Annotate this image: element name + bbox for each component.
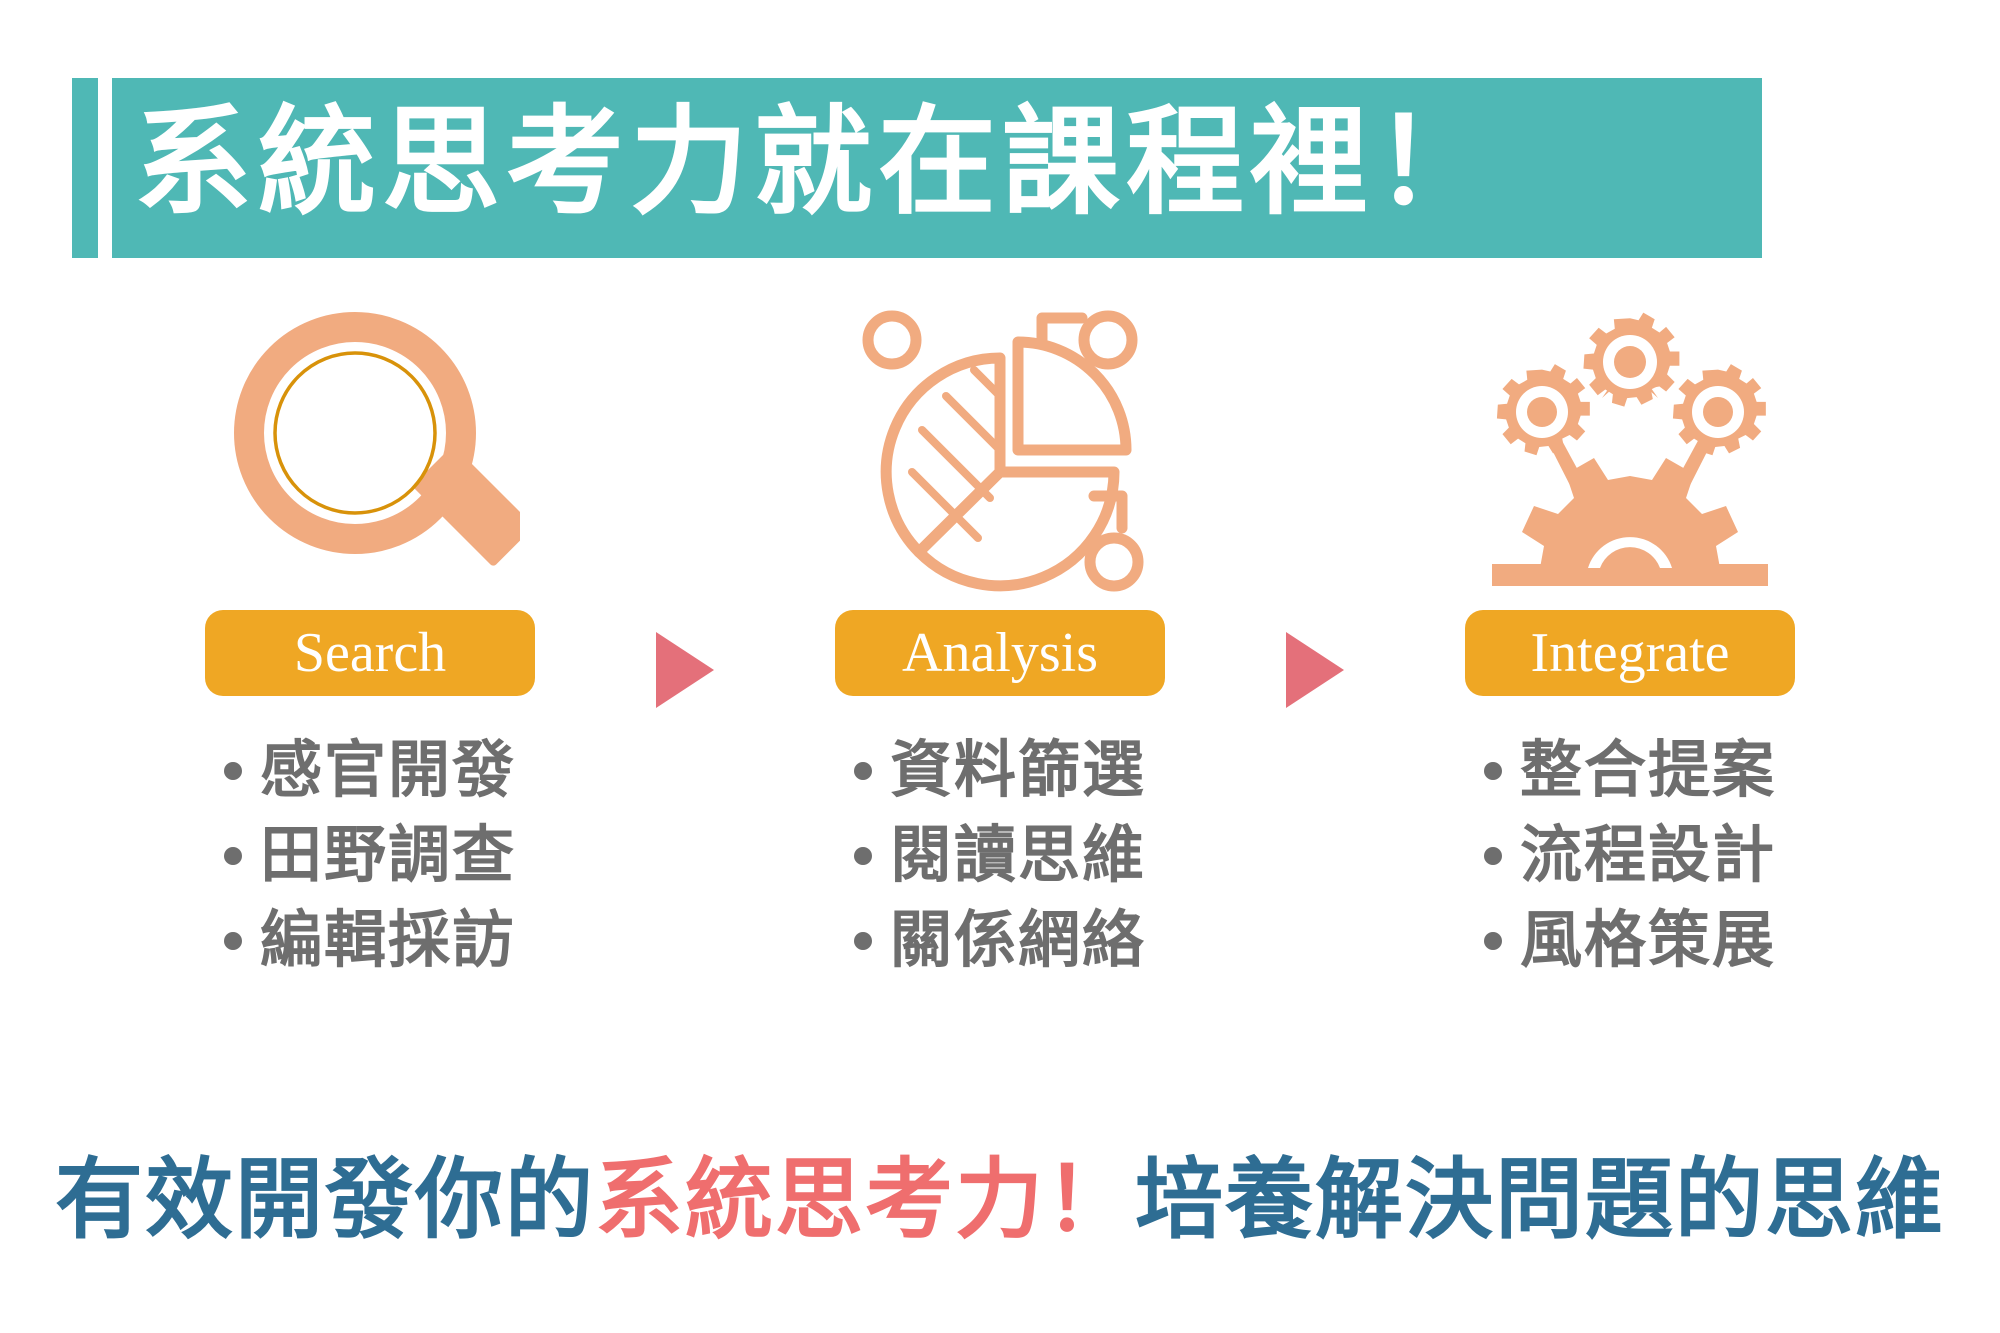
header-gap (98, 78, 112, 258)
step-label-text: Integrate (1531, 625, 1730, 681)
bullet-dot-icon (1484, 762, 1502, 780)
bullet-dot-icon (1484, 847, 1502, 865)
steps-row: Search 感官開發 田野調查 編輯採訪 (0, 300, 2000, 975)
play-triangle-icon (1286, 632, 1344, 708)
list-item: 關係網絡 (854, 908, 1146, 975)
list-item: 閱讀思維 (854, 823, 1146, 890)
arrow-2 (1240, 300, 1390, 708)
bullet-label: 資料篩選 (890, 738, 1146, 805)
list-item: 感官開發 (224, 738, 516, 805)
play-triangle-icon (656, 632, 714, 708)
bullet-label: 編輯採訪 (260, 908, 516, 975)
header-bar: 系統思考力就在課程裡！ (112, 78, 1762, 258)
tagline-part-1: 有效開發你的 (55, 1158, 595, 1246)
bullet-dot-icon (224, 932, 242, 950)
tagline-part-2: 系統思考力！ (595, 1158, 1135, 1246)
page-title: 系統思考力就在課程裡！ (134, 105, 1498, 223)
bullet-list-analysis: 資料篩選 閱讀思維 關係網絡 (854, 738, 1146, 975)
step-label-search[interactable]: Search (205, 610, 535, 696)
header-accent-bar (72, 78, 98, 258)
step-label-integrate[interactable]: Integrate (1465, 610, 1795, 696)
bullet-dot-icon (224, 847, 242, 865)
gears-icon (1480, 300, 1780, 600)
footer-tagline: 有效開發你的 系統思考力！ 培養解決問題的思維 (0, 1158, 2000, 1246)
step-analysis: Analysis 資料篩選 閱讀思維 關係網絡 (760, 300, 1240, 975)
list-item: 流程設計 (1484, 823, 1776, 890)
header-banner: 系統思考力就在課程裡！ (72, 78, 1762, 258)
list-item: 資料篩選 (854, 738, 1146, 805)
bullet-dot-icon (224, 762, 242, 780)
step-search: Search 感官開發 田野調查 編輯採訪 (130, 300, 610, 975)
bullet-list-search: 感官開發 田野調查 編輯採訪 (224, 738, 516, 975)
bullet-label: 關係網絡 (890, 908, 1146, 975)
bullet-dot-icon (854, 932, 872, 950)
list-item: 編輯採訪 (224, 908, 516, 975)
step-label-text: Search (294, 625, 446, 681)
bullet-label: 風格策展 (1520, 908, 1776, 975)
bullet-dot-icon (854, 847, 872, 865)
bullet-list-integrate: 整合提案 流程設計 風格策展 (1484, 738, 1776, 975)
list-item: 整合提案 (1484, 738, 1776, 805)
infographic-canvas: 系統思考力就在課程裡！ Search 感官開發 (0, 0, 2000, 1333)
bullet-dot-icon (854, 762, 872, 780)
magnifier-icon (220, 300, 520, 600)
tagline-part-3: 培養解決問題的思維 (1135, 1158, 1945, 1246)
arrow-1 (610, 300, 760, 708)
bullet-label: 流程設計 (1520, 823, 1776, 890)
pie-chart-icon (850, 300, 1150, 600)
step-label-analysis[interactable]: Analysis (835, 610, 1165, 696)
bullet-label: 整合提案 (1520, 738, 1776, 805)
bullet-label: 感官開發 (260, 738, 516, 805)
bullet-label: 閱讀思維 (890, 823, 1146, 890)
list-item: 田野調查 (224, 823, 516, 890)
bullet-label: 田野調查 (260, 823, 516, 890)
step-integrate: Integrate 整合提案 流程設計 風格策展 (1390, 300, 1870, 975)
step-label-text: Analysis (902, 625, 1098, 681)
bullet-dot-icon (1484, 932, 1502, 950)
list-item: 風格策展 (1484, 908, 1776, 975)
